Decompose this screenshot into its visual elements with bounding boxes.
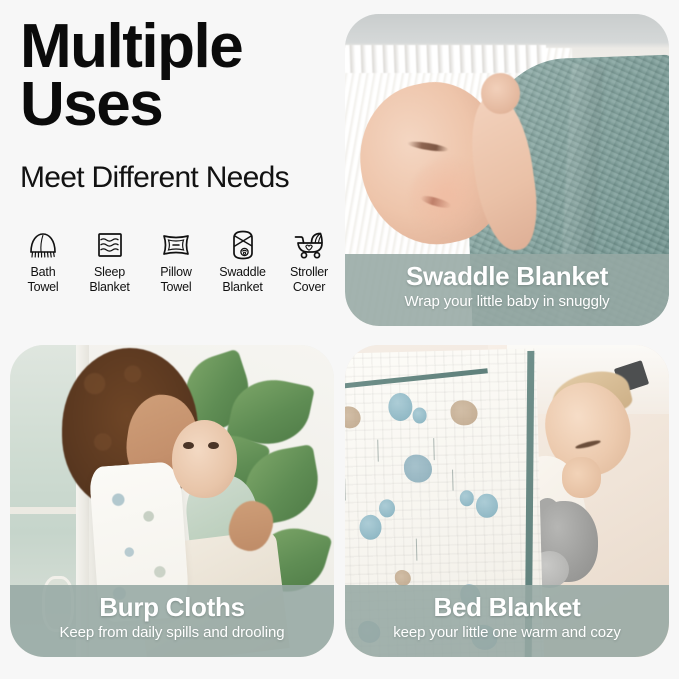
panel-burp-cloths[interactable]: Burp Cloths Keep from daily spills and d… [10,345,334,657]
blanket-motif-cat [394,570,410,586]
photo-card: Burp Cloths Keep from daily spills and d… [10,345,334,657]
baby-head [172,420,237,498]
caption-title: Burp Cloths [20,594,324,622]
window-sash [10,507,78,514]
use-item-label: Sleep Blanket [89,265,129,295]
baby-eye [208,442,219,449]
panel-swaddle-blanket[interactable]: Swaddle Blanket Wrap your little baby in… [345,14,669,326]
use-item-pillow-towel: Pillow Towel [145,228,207,295]
use-item-label: Swaddle Blanket [219,265,266,295]
blanket-motif-balloon [459,491,473,507]
use-item-label: Pillow Towel [160,265,191,295]
page-title: MultipleUses [20,18,340,135]
headline-block: MultipleUses Meet Different Needs [20,18,340,195]
use-item-stroller-cover: Stroller Cover [278,228,340,295]
blanket-motif-balloon [359,515,382,541]
blanket-motif-sprig [433,438,443,460]
baby-fist [481,73,520,114]
blanket-motif-balloon [388,392,413,421]
bath-towel-icon [27,228,59,262]
blanket-motif-sprig [345,478,353,500]
swaddle-blanket-icon [230,228,256,262]
caption-title: Bed Blanket [355,594,659,622]
blanket-motif-sprig [377,440,387,462]
panel-bed-blanket[interactable]: Bed Blanket keep your little one warm an… [345,345,669,657]
blanket-motif-sprig [416,539,426,561]
blanket-motif-sprig [452,469,462,491]
caption-title: Swaddle Blanket [355,263,659,291]
use-item-label: Stroller Cover [290,265,328,295]
fur-rug-edge [345,45,546,73]
blanket-motif-deer [450,400,477,426]
caption-subtitle: Keep from daily spills and drooling [20,624,324,642]
uses-icon-row: Bath Towel Sleep Blanket [12,228,340,295]
use-item-label: Bath Towel [28,265,59,295]
blanket-motif-elephant [403,454,432,483]
blanket-motif-balloon [475,493,498,519]
toddler-hand [562,457,601,498]
use-item-sleep-blanket: Sleep Blanket [79,228,141,295]
pillow-towel-icon [159,228,193,262]
title-line-2: Uses [20,76,340,134]
photo-card: Swaddle Blanket Wrap your little baby in… [345,14,669,326]
sleep-blanket-icon [95,228,125,262]
caption-subtitle: Wrap your little baby in snuggly [355,293,659,311]
blanket-motif-balloon [412,408,426,424]
page-subtitle: Meet Different Needs [20,161,340,195]
use-item-swaddle-blanket: Swaddle Blanket [212,228,274,295]
panel-caption: Burp Cloths Keep from daily spills and d… [10,585,334,657]
headline-panel: MultipleUses Meet Different Needs Bath T… [0,0,340,340]
blanket-motif-balloon [378,499,395,518]
panel-caption: Bed Blanket keep your little one warm an… [345,585,669,657]
product-infographic: MultipleUses Meet Different Needs Bath T… [0,0,679,679]
use-item-bath-towel: Bath Towel [12,228,74,295]
panel-caption: Swaddle Blanket Wrap your little baby in… [345,254,669,326]
stroller-cover-icon [292,228,326,262]
photo-card: Bed Blanket keep your little one warm an… [345,345,669,657]
blanket-motif-cat [345,406,361,428]
caption-subtitle: keep your little one warm and cozy [355,624,659,642]
